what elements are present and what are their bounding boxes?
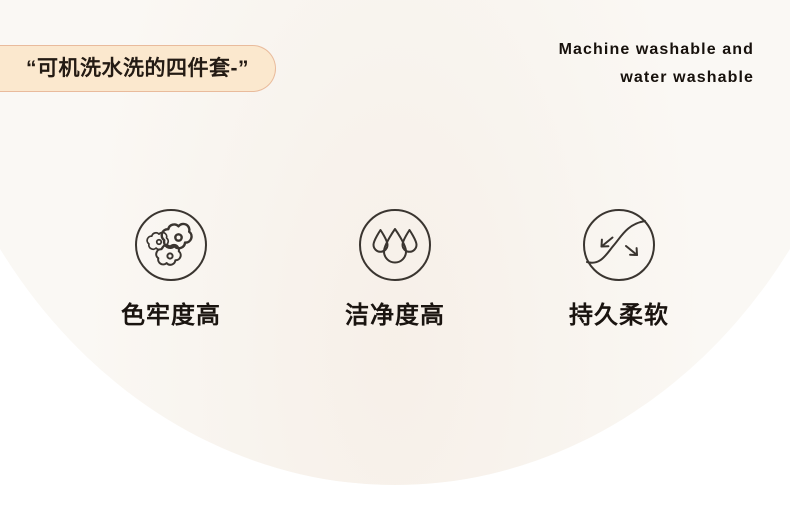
feature-item-cleanliness: 洁净度高 [283, 208, 507, 328]
feature-item-softness: 持久柔软 [507, 208, 731, 328]
badge-title-text: “可机洗水洗的四件套-” [26, 58, 249, 79]
english-headline: Machine washable and water washable [424, 36, 754, 92]
water-drops-icon [358, 208, 432, 282]
feature-item-color-fastness: 色牢度高 [59, 208, 283, 328]
badge-title-pill: “可机洗水洗的四件套-” [0, 45, 276, 92]
product-feature-banner: “可机洗水洗的四件套-” Machine washable and water … [0, 0, 790, 522]
english-headline-line-2: water washable [424, 64, 754, 92]
feature-label-cleanliness: 洁净度高 [345, 304, 445, 328]
flowers-icon [134, 208, 208, 282]
softness-curve-icon [582, 208, 656, 282]
feature-list: 色牢度高 洁净度高 [0, 208, 790, 328]
feature-label-softness: 持久柔软 [569, 304, 669, 328]
english-headline-line-1: Machine washable and [424, 36, 754, 64]
feature-label-color-fastness: 色牢度高 [121, 304, 221, 328]
